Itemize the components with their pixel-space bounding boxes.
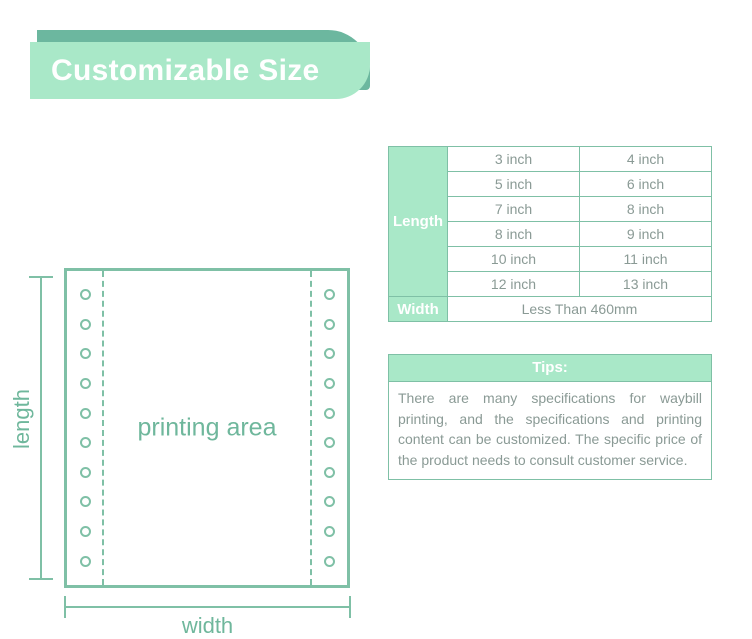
table-cell: 13 inch (580, 272, 712, 297)
length-row-header: Length (389, 147, 448, 297)
table-cell: 3 inch (448, 147, 580, 172)
width-row-header: Width (389, 297, 448, 322)
table-cell: 12 inch (448, 272, 580, 297)
table-cell: 11 inch (580, 247, 712, 272)
perforation-hole (80, 467, 91, 478)
width-dimension-label: width (64, 613, 351, 639)
printing-area-label: printing area (67, 414, 347, 443)
perforation-hole (324, 496, 335, 507)
perforation-hole (80, 378, 91, 389)
table-row: Length 3 inch 4 inch (389, 147, 712, 172)
perforation-hole (80, 289, 91, 300)
paper-size-diagram: length printing are (0, 128, 380, 513)
width-value-cell: Less Than 460mm (448, 297, 712, 322)
table-cell: 6 inch (580, 172, 712, 197)
table-cell: 8 inch (580, 197, 712, 222)
width-dimension-line (64, 606, 351, 608)
table-cell: 8 inch (448, 222, 580, 247)
perforation-hole (80, 319, 91, 330)
banner-front-layer: Customizable Size (30, 42, 370, 99)
length-dimension-cap-bottom (29, 578, 53, 580)
perforation-hole (324, 467, 335, 478)
perforation-hole (80, 496, 91, 507)
page-title: Customizable Size (51, 54, 320, 88)
table-cell: 7 inch (448, 197, 580, 222)
perforation-hole (80, 526, 91, 537)
perforation-hole (324, 556, 335, 567)
length-dimension-label: length (9, 379, 35, 459)
table-cell: 9 inch (580, 222, 712, 247)
tips-header: Tips: (388, 354, 712, 382)
page-header-banner: Customizable Size (0, 0, 400, 120)
size-specification-table: Length 3 inch 4 inch 5 inch 6 inch 7 inc… (388, 146, 712, 322)
tips-body-text: There are many specifications for waybil… (388, 382, 712, 480)
length-dimension-cap-top (29, 276, 53, 278)
length-dimension-line (40, 276, 42, 580)
paper-sheet: printing area (64, 268, 350, 588)
perforation-hole (80, 348, 91, 359)
perforation-hole (80, 556, 91, 567)
table-cell: 4 inch (580, 147, 712, 172)
table-cell: 10 inch (448, 247, 580, 272)
tips-box: Tips: There are many specifications for … (388, 354, 712, 480)
perforation-hole (324, 289, 335, 300)
perforation-hole (324, 526, 335, 537)
table-row: Width Less Than 460mm (389, 297, 712, 322)
table-cell: 5 inch (448, 172, 580, 197)
perforation-hole (324, 348, 335, 359)
perforation-hole (324, 378, 335, 389)
perforation-hole (324, 319, 335, 330)
